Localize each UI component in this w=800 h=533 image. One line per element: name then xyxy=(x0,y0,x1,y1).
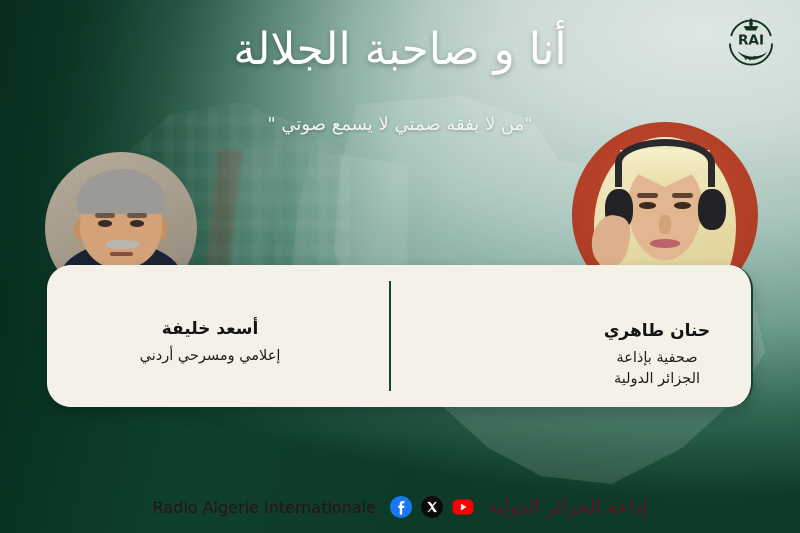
card-divider xyxy=(389,281,391,391)
guest-right-role-line1: صحفية بإذاعة xyxy=(532,348,782,369)
footer-bar: إذاعة الجزائر الدولية xyxy=(0,481,800,533)
guest-left-role: إعلامي ومسرحي أردني xyxy=(60,346,360,367)
youtube-icon[interactable] xyxy=(452,496,474,518)
guest-right-role-line2: الجزائر الدولية xyxy=(532,369,782,390)
footer-arabic-label: إذاعة الجزائر الدولية xyxy=(488,496,647,518)
page-title: أنا و صاحبة الجلالة xyxy=(0,22,800,77)
guest-right: حنان طاهري صحفية بإذاعة الجزائر الدولية xyxy=(532,320,782,390)
facebook-icon[interactable] xyxy=(390,496,412,518)
poster-canvas: RAI أنا و صاحبة الجلالة "من لا يفقه صمتي… xyxy=(0,0,800,533)
x-twitter-icon[interactable] xyxy=(421,496,443,518)
guest-right-name: حنان طاهري xyxy=(532,320,782,342)
guest-left: أسعد خليفة إعلامي ومسرحي أردني xyxy=(60,318,360,367)
footer-latin-label: Radio Algerie Internationale xyxy=(153,498,376,517)
social-links xyxy=(390,496,474,518)
guest-left-name: أسعد خليفة xyxy=(60,318,360,340)
